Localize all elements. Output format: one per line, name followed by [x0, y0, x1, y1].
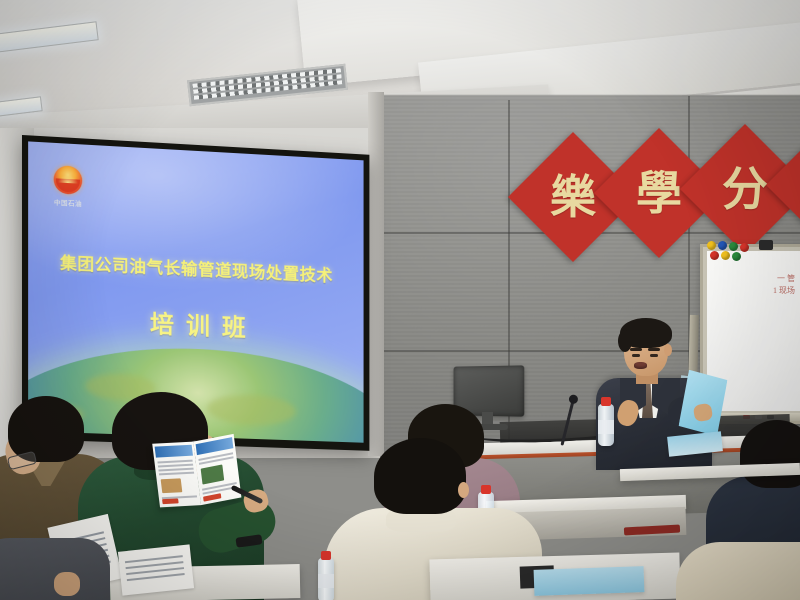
whiteboard-note: 一 管 1 现场 — [773, 273, 795, 297]
cnpc-logo-icon: 中国石油 — [51, 165, 86, 213]
training-booklet — [152, 435, 241, 509]
bottle-cap — [601, 397, 611, 406]
sunburst-icon — [54, 165, 83, 195]
person-hand — [54, 572, 80, 596]
speaker-ear — [664, 344, 672, 356]
placard-character: 樂 — [550, 174, 596, 220]
wall-corner — [368, 92, 384, 456]
bottle-cap — [321, 551, 331, 560]
person-torso — [676, 542, 800, 600]
bottle-label — [598, 420, 614, 434]
speaker-hair — [620, 318, 672, 348]
whiteboard-clip-icon — [759, 240, 773, 250]
water-bottle — [318, 558, 334, 600]
person-hair — [374, 438, 466, 514]
bottle-label — [318, 574, 334, 588]
paper-sheets — [118, 544, 194, 595]
person-hair — [8, 396, 84, 462]
person-ear — [458, 482, 469, 498]
water-bottle — [598, 404, 614, 446]
booklet-page — [193, 434, 241, 505]
speaker-mouth — [634, 362, 647, 369]
seminar-photo-scene: 樂 學 分 享 一 管 1 现场 — [0, 0, 800, 600]
placard-character: 分 — [722, 166, 768, 212]
whiteboard-note-line: 一 管 — [773, 273, 795, 285]
person-hair — [740, 420, 800, 488]
blue-document — [534, 566, 645, 596]
booklet-header — [155, 445, 193, 458]
whiteboard-note-line: 1 现场 — [773, 285, 795, 297]
magnet-group-icon — [707, 241, 751, 261]
placard-character: 學 — [636, 170, 682, 216]
logo-caption: 中国石油 — [51, 196, 86, 208]
audience-member — [0, 520, 110, 600]
audience-member — [676, 536, 800, 600]
